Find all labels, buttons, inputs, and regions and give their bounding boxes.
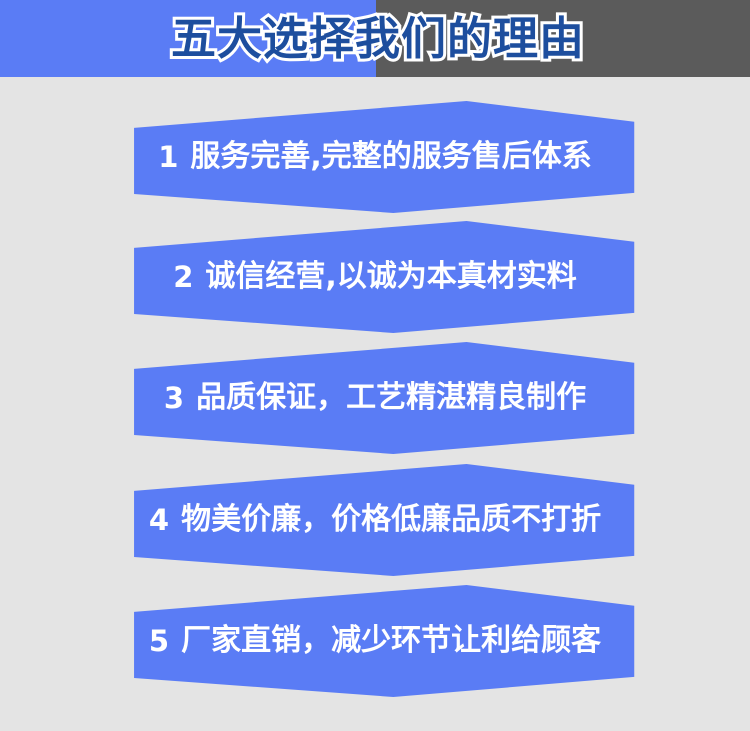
page-header: 五大选择我们的理由 <box>0 0 750 77</box>
reason-body-label: 品质保证，工艺精湛精良制作 <box>196 383 586 413</box>
reasons-list: 1 服务完善,完整的服务售后体系 2 诚信经营,以诚为本真材实料 3 品质保证，… <box>0 77 750 731</box>
reason-item-4: 4 物美价廉，价格低廉品质不打折 <box>0 464 750 576</box>
reason-text-4: 4 物美价廉，价格低廉品质不打折 <box>70 464 680 576</box>
reason-text-3: 3 品质保证，工艺精湛精良制作 <box>70 342 680 454</box>
page-title: 五大选择我们的理由 <box>0 0 750 77</box>
reason-index-label: 4 <box>149 506 169 535</box>
reason-item-2: 2 诚信经营,以诚为本真材实料 <box>0 221 750 333</box>
reason-index-label: 2 <box>173 263 193 292</box>
reason-item-1: 1 服务完善,完整的服务售后体系 <box>0 101 750 213</box>
reason-body-label: 服务完善,完整的服务售后体系 <box>190 142 591 172</box>
reason-body-label: 物美价廉，价格低廉品质不打折 <box>181 505 601 535</box>
reason-item-3: 3 品质保证，工艺精湛精良制作 <box>0 342 750 454</box>
reason-index-label: 5 <box>149 627 169 656</box>
reason-index-label: 1 <box>158 143 178 172</box>
reason-index-label: 3 <box>164 384 184 413</box>
reason-body-label: 厂家直销，减少环节让利给顾客 <box>181 626 601 656</box>
reason-body-label: 诚信经营,以诚为本真材实料 <box>205 262 576 292</box>
reason-text-1: 1 服务完善,完整的服务售后体系 <box>70 101 680 213</box>
reason-text-2: 2 诚信经营,以诚为本真材实料 <box>70 221 680 333</box>
reason-text-5: 5 厂家直销，减少环节让利给顾客 <box>70 585 680 697</box>
reason-item-5: 5 厂家直销，减少环节让利给顾客 <box>0 585 750 697</box>
promo-banner-page: 五大选择我们的理由 1 服务完善,完整的服务售后体系 2 诚信经营,以诚为本真材… <box>0 0 750 731</box>
